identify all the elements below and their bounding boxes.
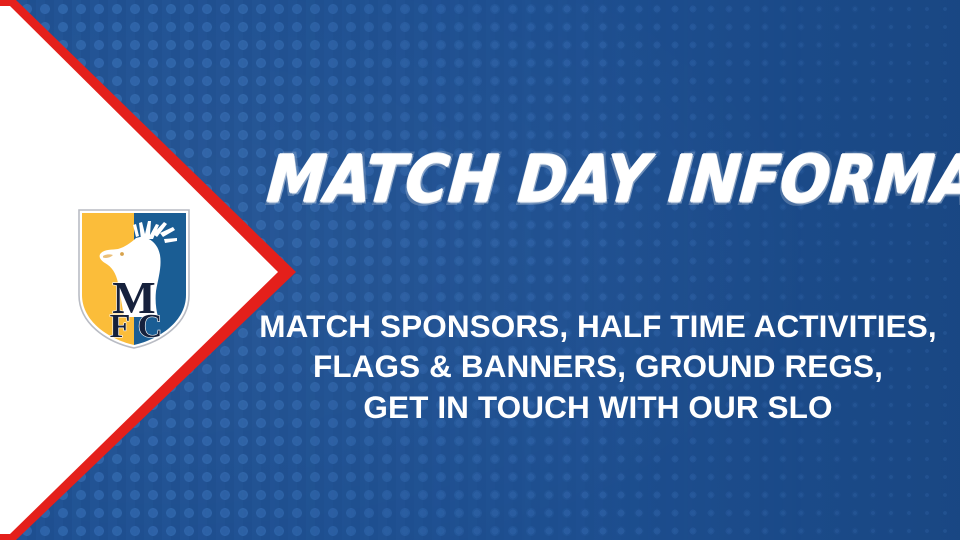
subheadline: MATCH SPONSORS, HALF TIME ACTIVITIES, FL… xyxy=(240,306,956,427)
headline: MATCH DAY INFORMATION xyxy=(265,147,931,212)
headline-text: MATCH DAY INFORMATION xyxy=(265,147,960,212)
crest-letter-f: F xyxy=(110,308,131,345)
club-crest: M F C xyxy=(78,209,190,349)
subheadline-line-3: GET IN TOUCH WITH OUR SLO xyxy=(240,387,956,427)
subheadline-line-1: MATCH SPONSORS, HALF TIME ACTIVITIES, xyxy=(240,306,956,346)
subheadline-line-2: FLAGS & BANNERS, GROUND REGS, xyxy=(240,346,956,386)
match-day-information-banner: M F C MATCH DAY INFORMATION MATCH SPONSO… xyxy=(0,0,960,540)
crest-stag-eye xyxy=(120,252,124,256)
crest-letter-c: C xyxy=(138,308,163,345)
